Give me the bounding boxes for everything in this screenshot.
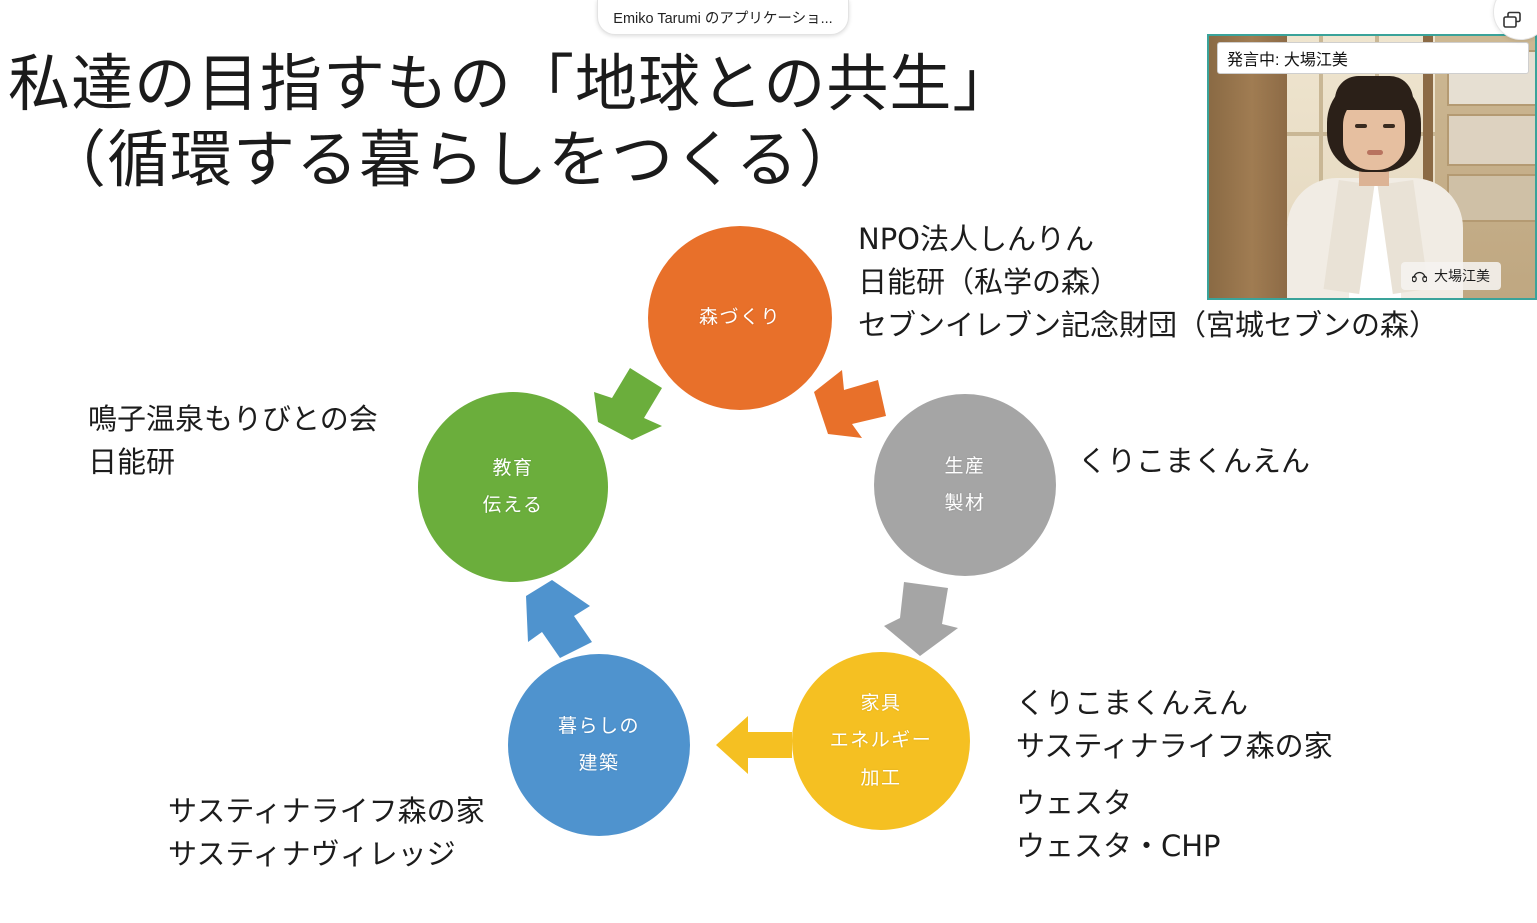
- cycle-node-education: 教育 伝える: [418, 392, 608, 582]
- note-production: くりこまくんえん: [1078, 440, 1310, 483]
- cycle-node-forest: 森づくり: [648, 226, 832, 410]
- speaking-indicator-text: 発言中: 大場江美: [1227, 46, 1348, 70]
- cycle-node-processing-label-3: 加工: [860, 760, 901, 797]
- note-living: サスティナライフ森の家 サスティナヴィレッジ: [168, 790, 485, 876]
- note-production-line-1: くりこまくんえん: [1078, 440, 1310, 483]
- arrow-forest-to-production-icon: [806, 358, 892, 442]
- arrow-processing-to-living-icon: [714, 708, 794, 782]
- cycle-node-production-label-2: 製材: [944, 485, 985, 522]
- cycle-node-living-label-1: 暮らしの: [558, 708, 640, 745]
- note-processing: くりこまくんえん サスティナライフ森の家 ウェスタ ウェスタ・CHP: [1016, 682, 1333, 868]
- cycle-node-education-label-1: 教育: [492, 450, 533, 487]
- cycle-node-production-label-1: 生産: [944, 448, 985, 485]
- note-education-line-2: 日能研: [88, 441, 378, 484]
- video-thumbnail-panel[interactable]: 発言中: 大場江美 大場江美: [1207, 34, 1537, 300]
- note-living-line-1: サスティナライフ森の家: [168, 790, 485, 833]
- note-education-line-1: 鳴子温泉もりびとの会: [88, 398, 378, 441]
- cycle-node-education-label-2: 伝える: [483, 487, 544, 524]
- cycle-node-forest-label: 森づくり: [699, 299, 781, 336]
- participant-name-badge: 大場江美: [1401, 262, 1501, 290]
- speaking-indicator: 発言中: 大場江美: [1217, 42, 1529, 74]
- headset-icon: [1412, 270, 1427, 283]
- windows-restore-icon: [1502, 11, 1524, 31]
- page-title: 私達の目指すもの「地球との共生」 （循環する暮らしをつくる）: [0, 46, 1210, 197]
- note-processing-line-2: サスティナライフ森の家: [1016, 725, 1333, 768]
- note-processing-line-3: ウェスタ: [1016, 782, 1333, 825]
- cycle-node-living: 暮らしの 建築: [508, 654, 690, 836]
- arrow-education-to-forest-icon: [584, 362, 670, 446]
- cycle-node-processing-label-2: エネルギー: [830, 722, 933, 759]
- page-title-line-1: 私達の目指すもの「地球との共生」: [0, 46, 1210, 122]
- page-title-line-2: （循環する暮らしをつくる）: [0, 122, 1210, 198]
- note-forest-line-3: セブンイレブン記念財団（宮城セブンの森）: [858, 304, 1438, 347]
- arrow-living-to-education-icon: [518, 578, 602, 660]
- note-living-line-2: サスティナヴィレッジ: [168, 833, 485, 876]
- note-education: 鳴子温泉もりびとの会 日能研: [88, 398, 378, 484]
- cycle-node-processing: 家具 エネルギー 加工: [792, 652, 970, 830]
- cycle-node-production: 生産 製材: [874, 394, 1056, 576]
- video-feed: [1209, 36, 1535, 298]
- cycle-node-processing-label-1: 家具: [860, 685, 901, 722]
- screen-share-indicator[interactable]: Emiko Tarumi のアプリケーショ...: [597, 0, 849, 35]
- arrow-production-to-processing-icon: [878, 578, 960, 662]
- cycle-node-living-label-2: 建築: [578, 745, 619, 782]
- note-processing-line-1: くりこまくんえん: [1016, 682, 1333, 725]
- note-processing-line-4: ウェスタ・CHP: [1016, 825, 1333, 868]
- participant-name-text: 大場江美: [1434, 266, 1490, 286]
- screen-share-title: Emiko Tarumi のアプリケーショ...: [613, 7, 832, 28]
